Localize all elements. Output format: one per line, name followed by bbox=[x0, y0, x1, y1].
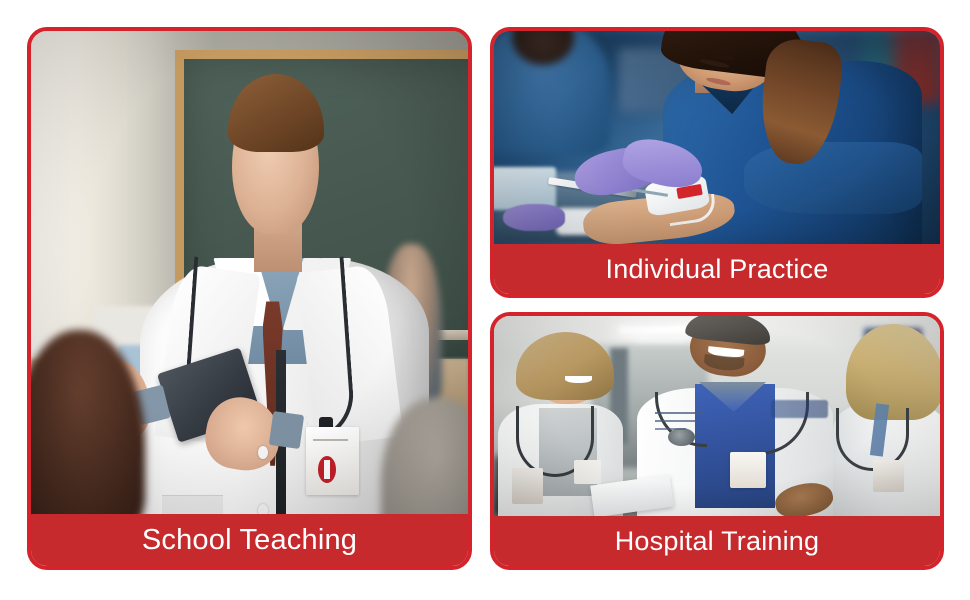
coat-pocket bbox=[162, 495, 223, 514]
caption-school-teaching: School Teaching bbox=[31, 514, 468, 566]
photo-school-teaching bbox=[31, 31, 468, 514]
coat-embroidery-line-2 bbox=[655, 420, 695, 422]
id-badge-text-line bbox=[313, 439, 348, 441]
shirt-cuff-right bbox=[269, 411, 304, 449]
doctor-id-badge bbox=[730, 452, 766, 488]
right-nurse-hair bbox=[846, 324, 940, 420]
id-badge-logo-icon bbox=[318, 456, 336, 483]
card-hospital-training[interactable]: Hospital Training bbox=[490, 312, 944, 570]
purple-glove-background bbox=[503, 204, 565, 232]
coat-embroidery-line-1 bbox=[655, 412, 704, 414]
coat-button-lower bbox=[258, 504, 268, 514]
left-nurse-pocket-badge bbox=[574, 460, 601, 484]
coat-button-upper bbox=[258, 446, 268, 459]
caption-individual-practice: Individual Practice bbox=[494, 244, 940, 294]
right-nurse-id-badge bbox=[873, 460, 904, 492]
card-school-teaching[interactable]: School Teaching bbox=[27, 27, 472, 570]
stethoscope-chestpiece bbox=[668, 428, 695, 446]
coat-embroidery-line-3 bbox=[655, 428, 686, 430]
collage-root: School Teaching bbox=[0, 0, 970, 600]
hospital-logo-embroidery bbox=[771, 400, 829, 418]
photo-individual-practice bbox=[494, 31, 940, 244]
card-individual-practice[interactable]: Individual Practice bbox=[490, 27, 944, 298]
left-nurse-id-badge bbox=[512, 468, 543, 504]
scrub-sleeve bbox=[744, 142, 922, 214]
caption-hospital-training: Hospital Training bbox=[494, 516, 940, 566]
photo-hospital-training bbox=[494, 316, 940, 516]
